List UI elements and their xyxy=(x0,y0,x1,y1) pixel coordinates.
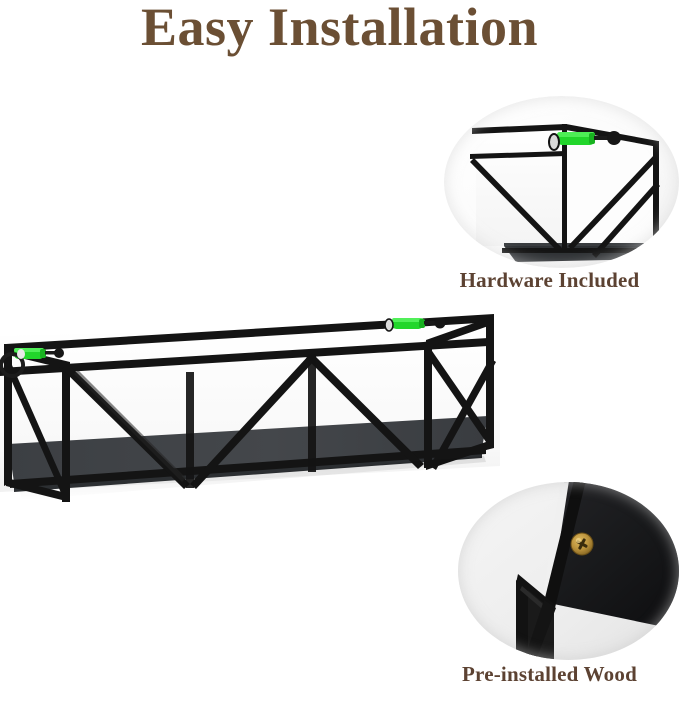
hardware-caption: Hardware Included xyxy=(420,268,679,293)
shelf-illustration xyxy=(0,296,520,546)
brass-screw-icon xyxy=(571,533,593,555)
product-infographic: Easy Installation xyxy=(0,0,679,711)
wood-caption: Pre-installed Wood xyxy=(420,662,679,687)
hardware-detail-illustration xyxy=(444,96,679,268)
page-title: Easy Installation xyxy=(0,0,679,56)
hardware-detail-inset xyxy=(444,96,679,268)
shelf-product-image xyxy=(0,296,520,546)
